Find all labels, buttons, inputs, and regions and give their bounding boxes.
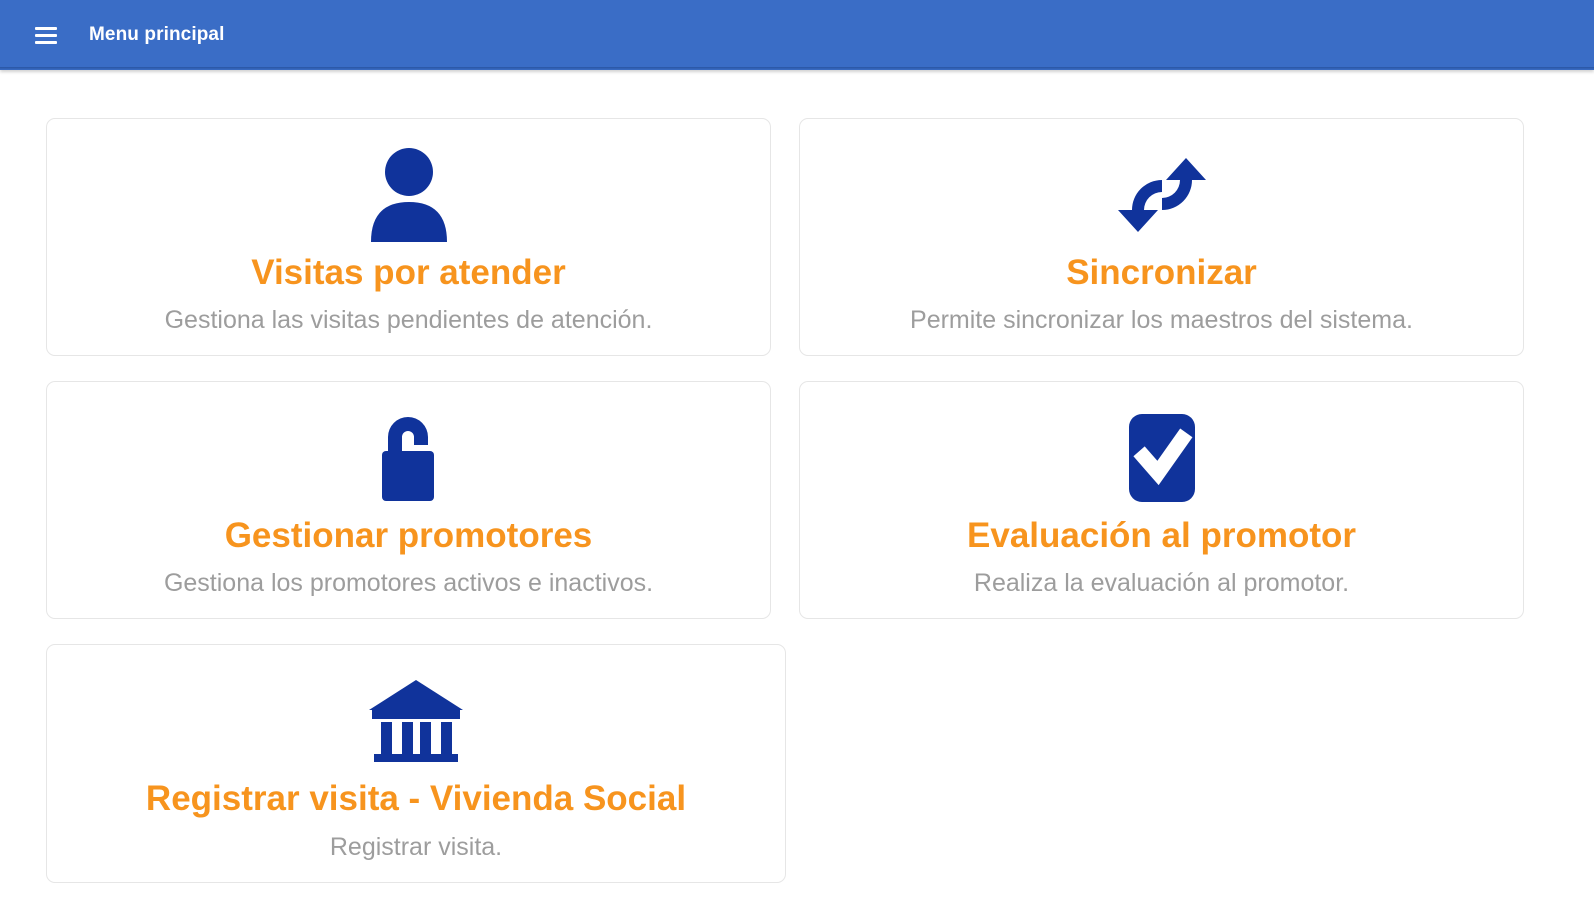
menu-card-title: Sincronizar	[1066, 253, 1257, 292]
menu-card-description: Permite sincronizar los maestros del sis…	[910, 305, 1413, 335]
menu-card-title: Evaluación al promotor	[967, 516, 1356, 555]
menu-card-title: Registrar visita - Vivienda Social	[146, 779, 686, 818]
menu-card-visitas-por-atender[interactable]: Visitas por atender Gestiona las visitas…	[46, 118, 771, 356]
menu-card-evaluacion-al-promotor[interactable]: Evaluación al promotor Realiza la evalua…	[799, 381, 1524, 619]
menu-card-description: Realiza la evaluación al promotor.	[974, 568, 1349, 598]
menu-card-sincronizar[interactable]: Sincronizar Permite sincronizar los maes…	[799, 118, 1524, 356]
page-title: Menu principal	[89, 24, 224, 46]
checkbox-checked-icon	[1116, 404, 1208, 512]
menu-card-description: Registrar visita.	[330, 832, 502, 862]
unlock-icon	[366, 404, 452, 512]
hamburger-bar	[35, 41, 57, 44]
menu-card-registrar-visita-vivienda-social[interactable]: Registrar visita - Vivienda Social Regis…	[46, 644, 786, 882]
hamburger-menu-icon[interactable]	[26, 15, 66, 55]
bank-building-icon	[364, 667, 468, 775]
hamburger-bar	[35, 27, 57, 30]
sync-icon	[1112, 141, 1212, 249]
menu-card-description: Gestiona los promotores activos e inacti…	[164, 568, 653, 598]
app-bar: Menu principal	[0, 0, 1594, 70]
person-icon	[361, 141, 457, 249]
main-content: Visitas por atender Gestiona las visitas…	[0, 70, 1594, 883]
menu-card-title: Gestionar promotores	[225, 516, 593, 555]
menu-card-description: Gestiona las visitas pendientes de atenc…	[165, 305, 653, 335]
hamburger-bar	[35, 34, 57, 37]
menu-card-title: Visitas por atender	[251, 253, 565, 292]
menu-card-gestionar-promotores[interactable]: Gestionar promotores Gestiona los promot…	[46, 381, 771, 619]
menu-card-grid: Visitas por atender Gestiona las visitas…	[46, 118, 1552, 883]
